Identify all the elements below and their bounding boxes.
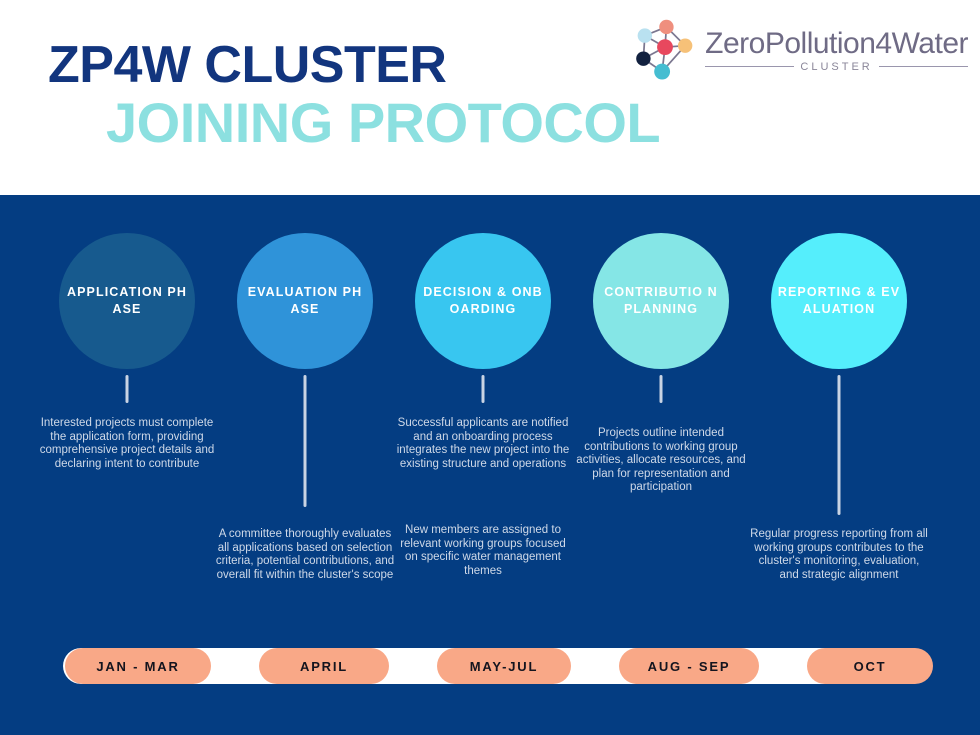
step-connector bbox=[126, 375, 129, 403]
step-description: Successful applicants are notified and a… bbox=[393, 417, 573, 471]
step-connector bbox=[660, 375, 663, 403]
logo-name: ZeroPollution4Water bbox=[705, 28, 968, 60]
step-bubble-decision-onboarding[interactable]: DECISION & ONBOARDING bbox=[415, 233, 551, 369]
timeline-pill-label: OCT bbox=[854, 659, 887, 674]
timeline-pill-label: AUG - SEP bbox=[648, 659, 731, 674]
timeline-gap-1 bbox=[211, 648, 259, 684]
logo-rule-right bbox=[879, 66, 968, 67]
step-title: REPORTING & EVALUATION bbox=[771, 284, 907, 318]
step-bubble-contribution-planning[interactable]: CONTRIBUTIO N PLANNING bbox=[593, 233, 729, 369]
step-connector bbox=[838, 375, 841, 515]
timeline-pill-label: APRIL bbox=[300, 659, 348, 674]
logo-rule-left bbox=[705, 66, 794, 67]
step-bubble-reporting-evaluation[interactable]: REPORTING & EVALUATION bbox=[771, 233, 907, 369]
header-area: ZP4W CLUSTER JOINING PROTOCOL bbox=[0, 0, 980, 195]
step-title: DECISION & ONBOARDING bbox=[415, 284, 551, 318]
step-description-secondary: New members are assigned to relevant wor… bbox=[393, 524, 573, 578]
step-description: Regular progress reporting from all work… bbox=[749, 528, 929, 582]
infographic-canvas: ZP4W CLUSTER JOINING PROTOCOL bbox=[0, 0, 980, 735]
timeline-pill-2[interactable]: APRIL bbox=[259, 648, 389, 684]
timeline-pill-1[interactable]: JAN - MAR bbox=[65, 648, 211, 684]
step-description: Interested projects must complete the ap… bbox=[37, 417, 217, 471]
timeline-pill-3[interactable]: MAY-JUL bbox=[437, 648, 571, 684]
timeline-pill-label: JAN - MAR bbox=[96, 659, 179, 674]
timeline-gap-4 bbox=[759, 648, 807, 684]
timeline-gap-2 bbox=[389, 648, 437, 684]
title-line-secondary: JOINING PROTOCOL bbox=[106, 94, 660, 152]
page-title: ZP4W CLUSTER JOINING PROTOCOL bbox=[48, 38, 660, 152]
logo-wordmark: ZeroPollution4Water CLUSTER bbox=[705, 28, 968, 73]
step-title: CONTRIBUTIO N PLANNING bbox=[593, 284, 729, 318]
logo-subtitle: CLUSTER bbox=[800, 61, 872, 73]
network-nodes-icon bbox=[629, 14, 701, 86]
step-connector bbox=[482, 375, 485, 403]
timeline-pill-label: MAY-JUL bbox=[470, 659, 538, 674]
step-bubble-application-phase[interactable]: APPLICATION PHASE bbox=[59, 233, 195, 369]
step-bubble-evaluation-phase[interactable]: EVALUATION PHASE bbox=[237, 233, 373, 369]
step-title: APPLICATION PHASE bbox=[59, 284, 195, 318]
logo-subtitle-row: CLUSTER bbox=[705, 61, 968, 73]
timeline-pill-4[interactable]: AUG - SEP bbox=[619, 648, 759, 684]
zeropollution4water-logo: ZeroPollution4Water CLUSTER bbox=[629, 14, 968, 86]
step-title: EVALUATION PHASE bbox=[237, 284, 373, 318]
step-description: Projects outline intended contributions … bbox=[571, 427, 751, 495]
timeline-pill-5[interactable]: OCT bbox=[807, 648, 933, 684]
title-line-primary: ZP4W CLUSTER bbox=[48, 38, 660, 92]
timeline-track: JAN - MAR APRIL MAY-JUL AUG - SEP OCT bbox=[63, 648, 917, 684]
step-connector bbox=[304, 375, 307, 507]
step-description: A committee thoroughly evaluates all app… bbox=[215, 528, 395, 582]
timeline-gap-3 bbox=[571, 648, 619, 684]
